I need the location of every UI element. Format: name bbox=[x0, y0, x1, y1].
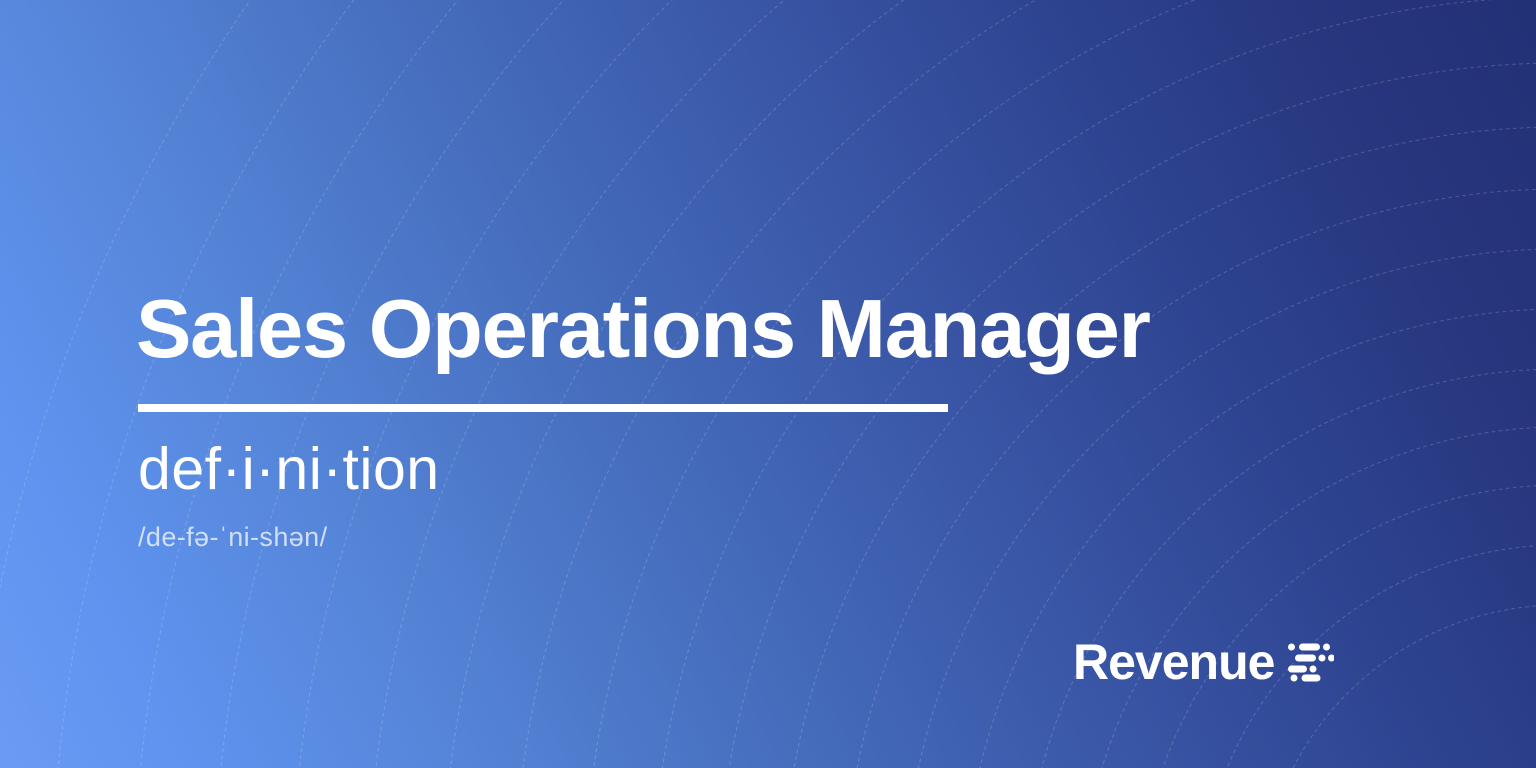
page-title: Sales Operations Manager bbox=[136, 287, 1150, 370]
logo-wordmark: Revenue bbox=[1073, 637, 1274, 687]
revenue-logo[interactable]: Revenue bbox=[1073, 637, 1334, 687]
revenue-dashes-mark-icon bbox=[1288, 642, 1334, 682]
phonetic-pronunciation: /de-fə-ˈni-shən/ bbox=[138, 524, 327, 551]
title-divider bbox=[138, 404, 948, 412]
banner-content: Sales Operations Manager def·i·ni·tion /… bbox=[0, 0, 1536, 768]
definition-headword: def·i·ni·tion bbox=[138, 440, 440, 499]
definition-banner: Sales Operations Manager def·i·ni·tion /… bbox=[0, 0, 1536, 768]
